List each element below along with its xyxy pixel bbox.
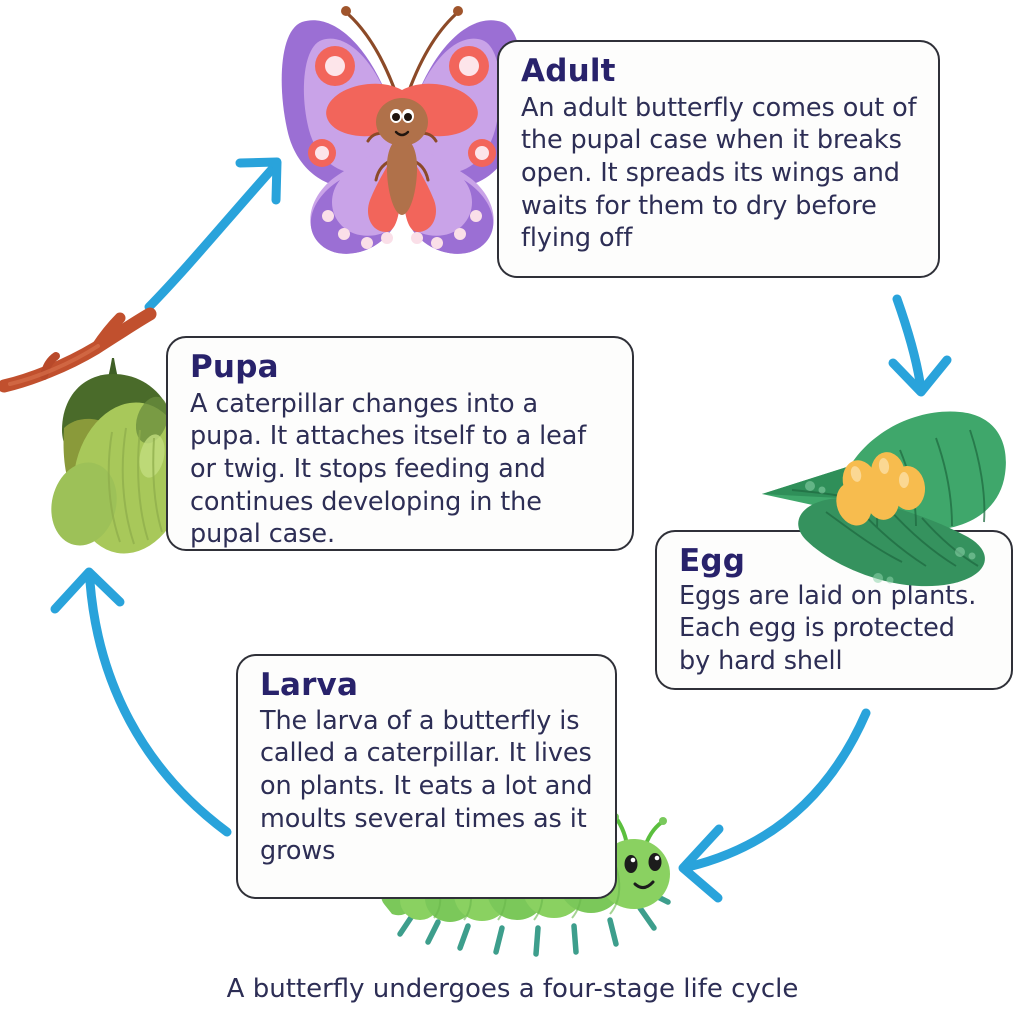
arrow-pupa-to-adult — [149, 162, 277, 307]
stage-title-pupa: Pupa — [190, 350, 614, 386]
diagram-caption: A butterfly undergoes a four-stage life … — [0, 974, 1025, 1004]
butterfly-illustration — [272, 0, 532, 270]
antenna-tip-left — [341, 6, 351, 16]
info-box-adult[interactable]: Adult An adult butterfly comes out of th… — [497, 40, 940, 278]
twig — [4, 314, 150, 386]
antenna-tip-right — [453, 6, 463, 16]
stage-title-adult: Adult — [521, 54, 920, 90]
stage-body-pupa: A caterpillar changes into a pupa. It at… — [190, 388, 614, 551]
info-box-pupa[interactable]: Pupa A caterpillar changes into a pupa. … — [166, 336, 634, 551]
stage-body-adult: An adult butterfly comes out of the pupa… — [521, 92, 920, 255]
stage-title-larva: Larva — [260, 668, 597, 704]
leaf-with-eggs-illustration — [722, 402, 1022, 597]
butterfly-life-cycle-diagram: Adult An adult butterfly comes out of th… — [0, 0, 1025, 1025]
arrow-adult-to-egg — [893, 299, 947, 392]
antenna-tip-right — [659, 817, 667, 825]
arrow-egg-to-larva — [683, 713, 866, 898]
stage-body-larva: The larva of a butterfly is called a cat… — [260, 705, 597, 868]
arrow-larva-to-pupa — [55, 572, 227, 832]
info-box-larva[interactable]: Larva The larva of a butterfly is called… — [236, 654, 617, 899]
leaf-fold — [762, 466, 850, 498]
